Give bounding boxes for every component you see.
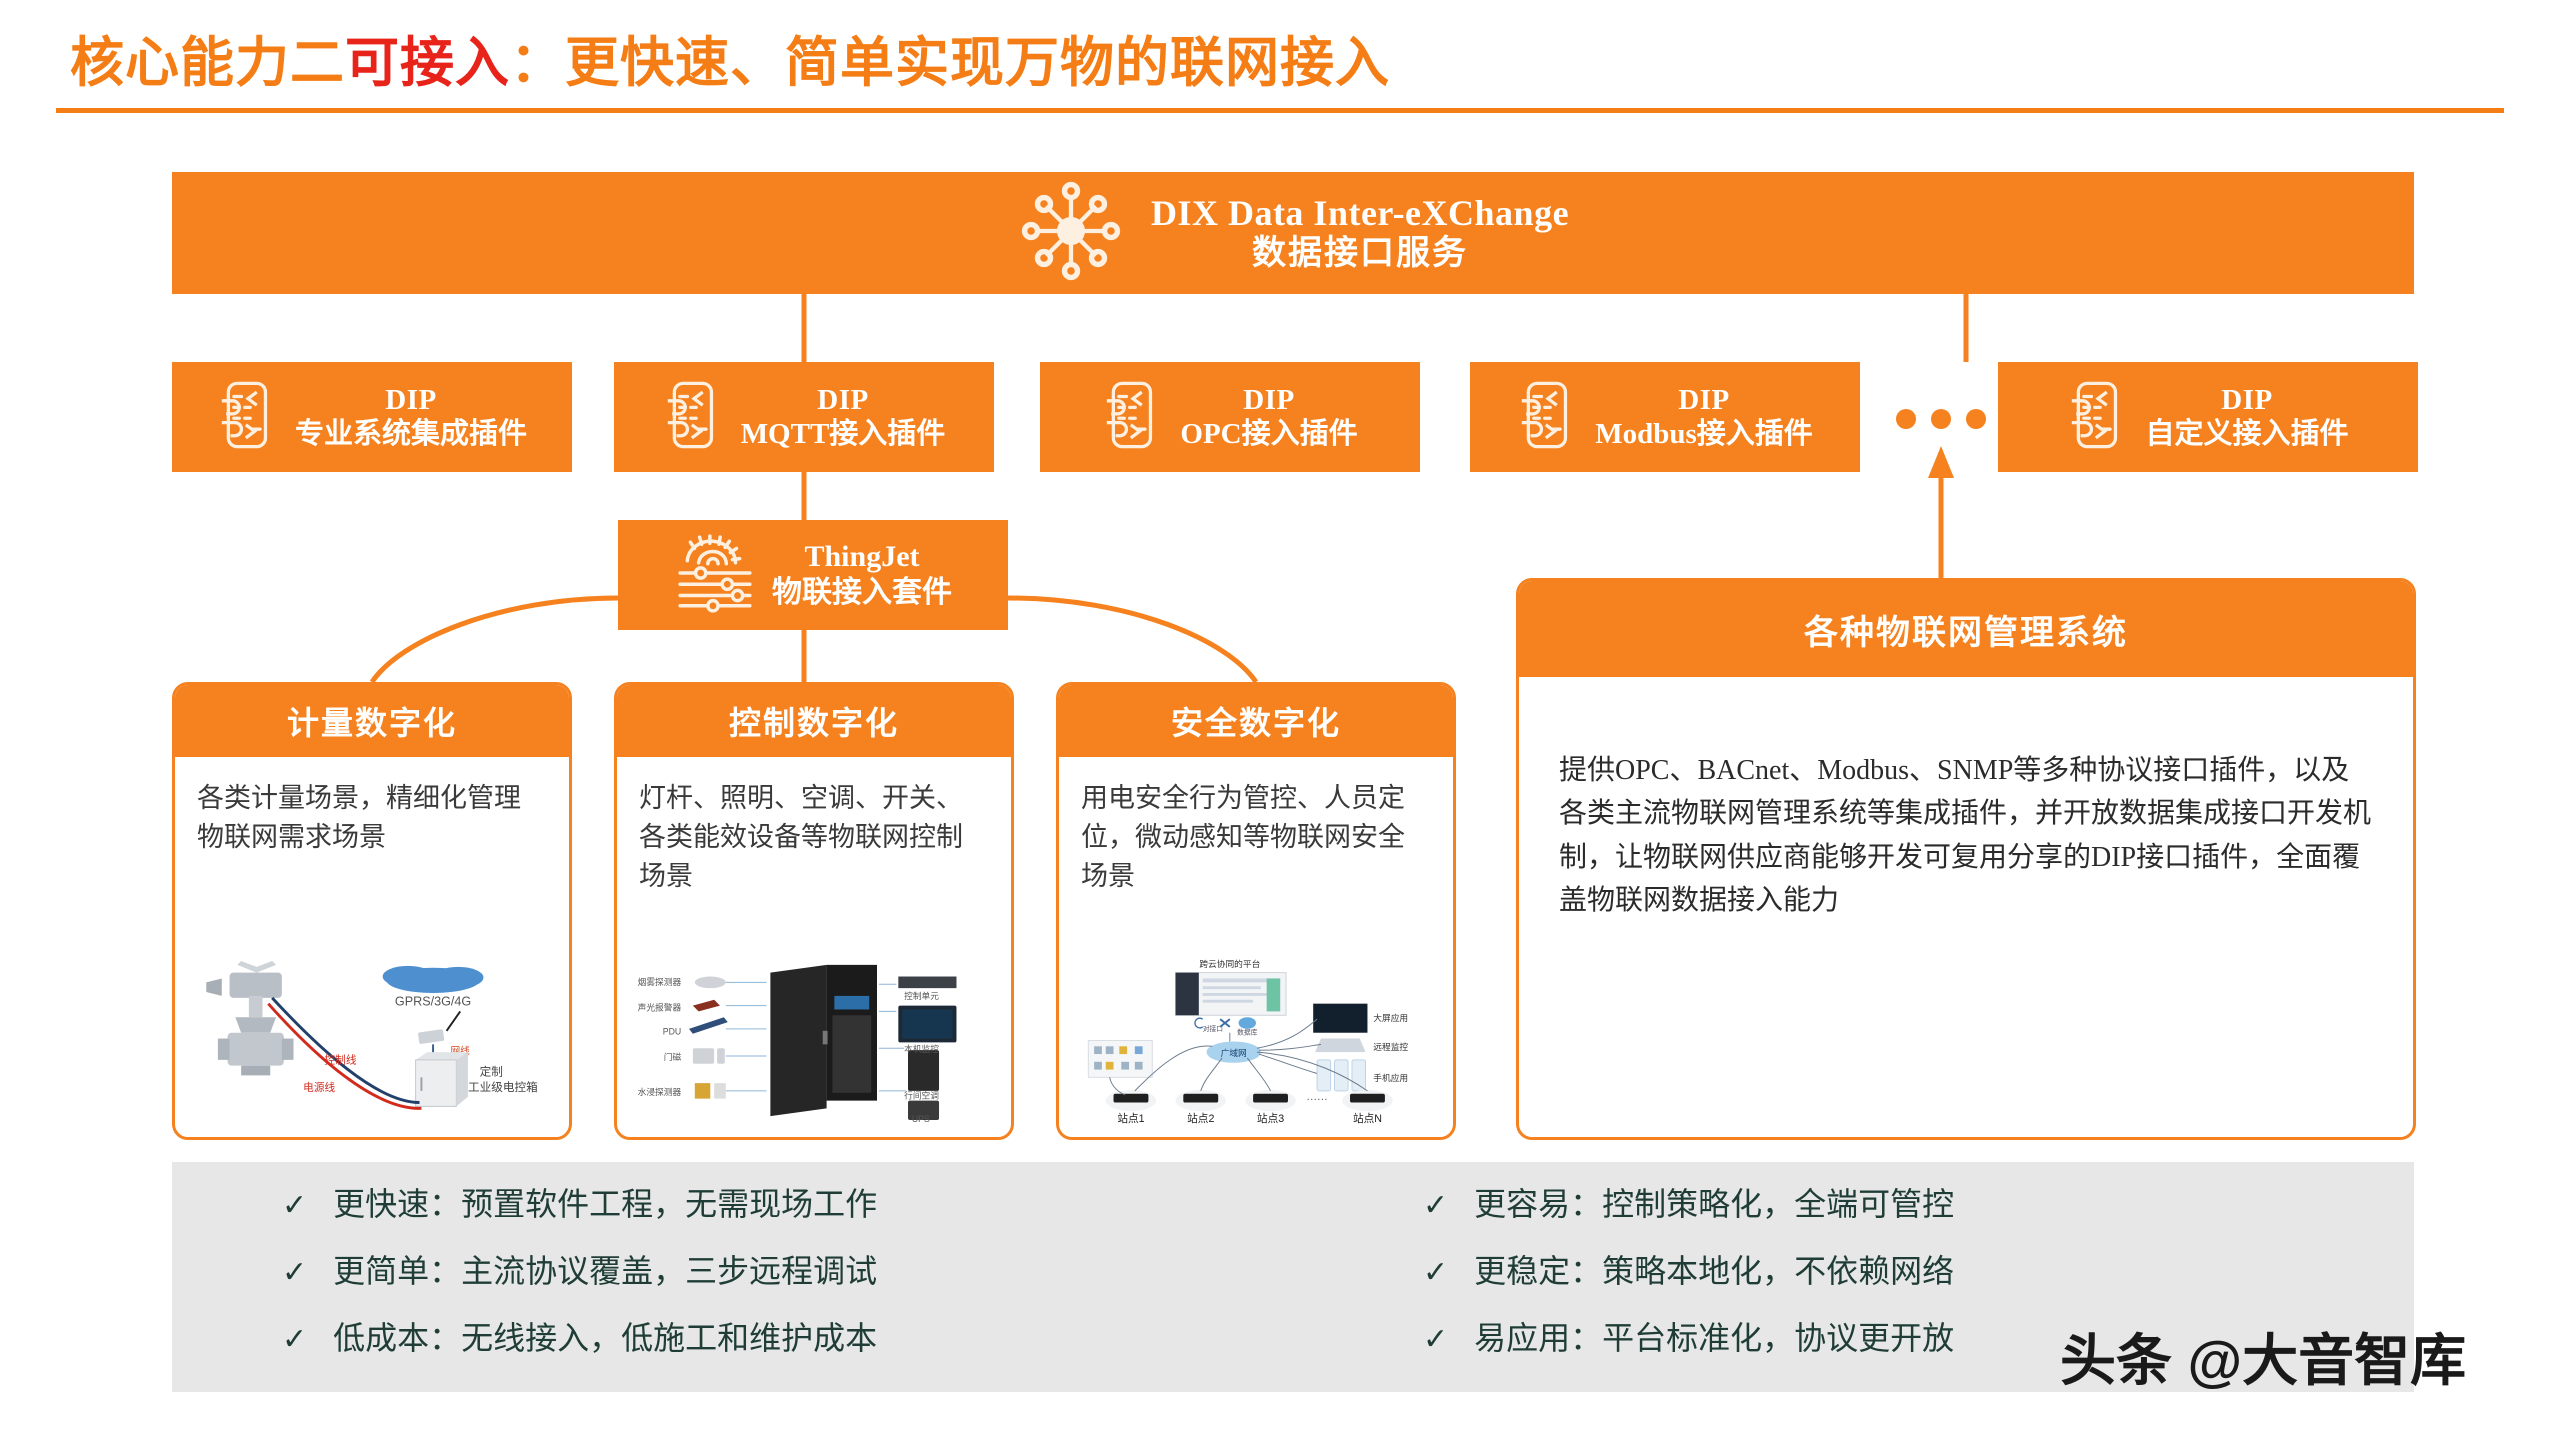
svg-text:对接口: 对接口 [1203,1024,1223,1033]
gear-circuit-icon [674,532,756,619]
benefits-column-left: ✓ 更快速：预置软件工程，无需现场工作 ✓ 更简单：主流协议覆盖，三步远程调试 … [172,1162,1293,1392]
benefit-text: 易应用：平台标准化，协议更开放 [1474,1322,1954,1354]
card-heading: 控制数字化 [617,685,1011,757]
thingjet-title: ThingJet [772,539,952,575]
svg-text:本机监控: 本机监控 [904,1043,939,1054]
dix-subtitle: 数据接口服务 [1151,234,1569,274]
svg-text:电源线: 电源线 [303,1081,335,1094]
dip-name-label: 自定义接入插件 [2145,417,2348,451]
scenario-card-metering[interactable]: 计量数字化 各类计量场景，精细化管理物联网需求场景 GPRS/3G/4G [172,682,572,1140]
valve-remote-metering-diagram: GPRS/3G/4G 网线 定制 工业级电控箱 控制线 电源线 [183,951,561,1129]
dix-banner: DIX Data Inter-eXChange 数据接口服务 [172,172,2414,294]
svg-text:控制线: 控制线 [325,1054,357,1067]
benefit-text: 低成本：无线接入，低施工和维护成本 [333,1322,877,1354]
card-heading: 计量数字化 [175,685,569,757]
dip-name-label: 专业系统集成插件 [295,417,527,451]
thingjet-box[interactable]: ThingJet 物联接入套件 [618,520,1008,630]
svg-text:远程监控: 远程监控 [1373,1041,1408,1052]
page-title-highlight: 可接入 [345,33,510,93]
check-icon: ✓ [282,1191,307,1221]
thingjet-subtitle: 物联接入套件 [772,575,952,611]
check-icon: ✓ [1423,1191,1448,1221]
dip-kind-label: DIP [1180,383,1357,417]
check-icon: ✓ [1423,1325,1448,1355]
dip-name-label: Modbus接入插件 [1595,417,1813,451]
svg-text:PDU: PDU [663,1027,681,1037]
iot-management-systems-panel[interactable]: 各种物联网管理系统 提供OPC、BACnet、Modbus、SNMP等多种协议接… [1516,578,2416,1140]
svg-text:数据库: 数据库 [1237,1028,1258,1037]
card-body-text: 灯杆、照明、空调、开关、各类能效设备等物联网控制场景 [617,757,1011,896]
watermark: 头条 @大音智库 [2060,1316,2466,1397]
page-title-part1: 核心能力二 [70,33,345,93]
dip-kind-label: DIP [295,383,527,417]
dip-kind-label: DIP [1595,383,1813,417]
svg-text:······: ······ [1306,1094,1327,1106]
check-icon: ✓ [282,1325,307,1355]
plugin-exchange-icon [1517,379,1579,456]
plugin-exchange-icon [663,379,725,456]
slide-title-bar: 核心能力二可接入：更快速、简单实现万物的联网接入 [0,0,2560,120]
benefit-item: ✓ 更快速：预置软件工程，无需现场工作 [282,1188,1293,1221]
svg-text:水浸探测器: 水浸探测器 [638,1086,682,1097]
svg-text:站点3: 站点3 [1257,1112,1284,1125]
svg-text:声光报警器: 声光报警器 [638,1001,682,1012]
scenario-card-control[interactable]: 控制数字化 灯杆、照明、空调、开关、各类能效设备等物联网控制场景 烟雾探测器 声… [614,682,1014,1140]
benefit-text: 更稳定：策略本地化，不依赖网络 [1474,1255,1954,1287]
check-icon: ✓ [282,1258,307,1288]
card-heading: 安全数字化 [1059,685,1453,757]
benefit-item: ✓ 更稳定：策略本地化，不依赖网络 [1423,1255,2414,1288]
svg-text:GPRS/3G/4G: GPRS/3G/4G [395,995,471,1009]
scenario-card-safety[interactable]: 安全数字化 用电安全行为管控、人员定位，微动感知等物联网安全场景 跨云协同的平台… [1056,682,1456,1140]
card-body-text: 用电安全行为管控、人员定位，微动感知等物联网安全场景 [1059,757,1453,896]
ellipsis-indicator [1896,408,1986,430]
dix-title: DIX Data Inter-eXChange [1151,192,1569,234]
svg-text:跨云协同的平台: 跨云协同的平台 [1199,958,1260,969]
plugin-exchange-icon [2067,379,2129,456]
plugin-exchange-icon [1102,379,1164,456]
multi-site-network-topology: 跨云协同的平台 对接口 数据库 广域网 大屏应用 远程监控 [1067,951,1445,1129]
dip-plugin-box-5[interactable]: DIP 自定义接入插件 [1998,362,2418,472]
svg-text:UPS: UPS [912,1114,930,1124]
title-divider [56,108,2504,113]
svg-text:站点2: 站点2 [1187,1112,1214,1125]
svg-text:门磁: 门磁 [664,1051,682,1062]
dip-plugin-box-1[interactable]: DIP 专业系统集成插件 [172,362,572,472]
smart-cabinet-diagram: 烟雾探测器 声光报警器 PDU 门磁 水浸探测器 控制单元 本机监控 行间空调 … [625,951,1003,1129]
benefit-item: ✓ 更容易：控制策略化，全端可管控 [1423,1188,2414,1221]
panel-heading: 各种物联网管理系统 [1519,581,2413,677]
benefit-text: 更容易：控制策略化，全端可管控 [1474,1188,1954,1220]
dip-plugin-box-4[interactable]: DIP Modbus接入插件 [1470,362,1860,472]
page-title: 核心能力二可接入：更快速、简单实现万物的联网接入 [70,18,1390,97]
svg-text:烟雾探测器: 烟雾探测器 [638,976,682,987]
dip-plugin-box-3[interactable]: DIP OPC接入插件 [1040,362,1420,472]
svg-text:工业级电控箱: 工业级电控箱 [468,1080,538,1094]
svg-text:站点1: 站点1 [1117,1112,1144,1125]
dip-plugin-box-2[interactable]: DIP MQTT接入插件 [614,362,994,472]
svg-text:广域网: 广域网 [1221,1047,1247,1058]
benefit-text: 更快速：预置软件工程，无需现场工作 [333,1188,877,1220]
svg-text:行间空调: 行间空调 [904,1090,939,1101]
check-icon: ✓ [1423,1258,1448,1288]
card-body-text: 各类计量场景，精细化管理物联网需求场景 [175,757,569,857]
dip-name-label: MQTT接入插件 [741,417,946,451]
dip-kind-label: DIP [741,383,946,417]
svg-text:大屏应用: 大屏应用 [1373,1012,1408,1023]
benefit-item: ✓ 低成本：无线接入，低施工和维护成本 [282,1322,1293,1355]
page-title-part3: ：更快速、简单实现万物的联网接入 [510,33,1390,93]
svg-text:手机应用: 手机应用 [1373,1072,1408,1083]
panel-body-text: 提供OPC、BACnet、Modbus、SNMP等多种协议接口插件，以及各类主流… [1519,677,2413,923]
plugin-exchange-icon [217,379,279,456]
svg-text:定制: 定制 [480,1064,503,1078]
benefit-item: ✓ 更简单：主流协议覆盖，三步远程调试 [282,1255,1293,1288]
dip-name-label: OPC接入插件 [1180,417,1357,451]
svg-text:控制单元: 控制单元 [904,990,939,1001]
svg-text:站点N: 站点N [1353,1112,1382,1125]
dip-kind-label: DIP [2145,383,2348,417]
benefit-text: 更简单：主流协议覆盖，三步远程调试 [333,1255,877,1287]
network-hub-icon [1017,177,1125,290]
